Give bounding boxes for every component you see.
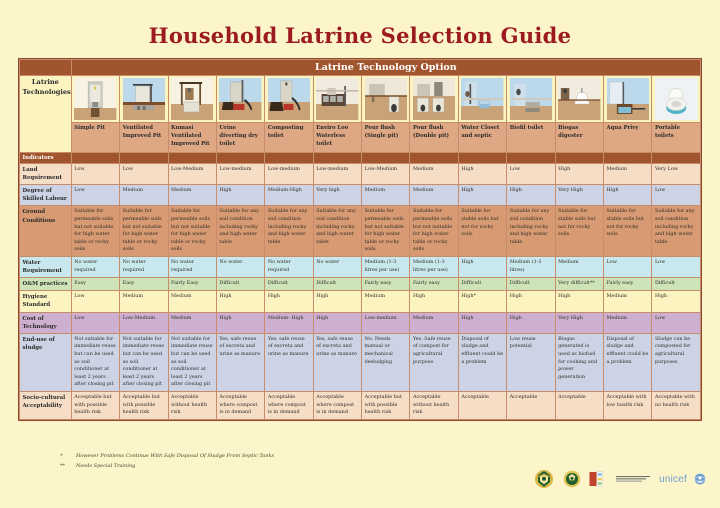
column-header-6: Pour flush (Single pit) [362, 123, 410, 153]
indicators-fill [313, 153, 361, 164]
cell-7-8: Disposal of sludge and effluent could be… [458, 333, 506, 391]
cell-8-0: Acceptable but with possible health risk [71, 391, 119, 419]
indicators-fill [604, 153, 652, 164]
cell-2-11: Suitable for stable soils but not for ro… [604, 206, 652, 257]
footnote-0: *However Problems Continue With Safe Dis… [60, 452, 274, 462]
cell-4-1: Easy [120, 278, 168, 291]
water-closet-septic-thumbnail [458, 76, 506, 123]
cell-4-0: Easy [71, 278, 119, 291]
cell-3-0: No water required [71, 257, 119, 278]
cell-3-3: No water [216, 257, 264, 278]
pour-flush-single-thumbnail [362, 76, 410, 123]
cell-5-12: High [652, 291, 701, 312]
banner-corner [20, 60, 72, 76]
cell-7-5: Yes, safe reuse of excreta and urine as … [313, 333, 361, 391]
cell-3-4: No water required [265, 257, 313, 278]
cell-6-7: Medium [410, 312, 458, 333]
environmental-health-wordmark [616, 472, 652, 486]
cell-8-5: Acceptable where compost is in demand [313, 391, 361, 419]
cell-5-8: High* [458, 291, 506, 312]
column-header-10: Biogas digester [555, 123, 603, 153]
cell-5-11: Medium [604, 291, 652, 312]
cell-3-5: No water [313, 257, 361, 278]
table-row: Degree of Skilled LabourLowMediumMediumH… [20, 185, 701, 206]
cell-6-1: Low-Medium [120, 312, 168, 333]
logo-strip: unicef [533, 466, 706, 492]
column-header-9: Biofil toilet [507, 123, 555, 153]
column-header-7: Pour flush (Double pit) [410, 123, 458, 153]
cell-4-2: Fairly Easy [168, 278, 216, 291]
cell-2-3: Suitable for any soil condition includin… [216, 206, 264, 257]
cell-5-0: Low [71, 291, 119, 312]
cell-8-2: Acceptable without health risk [168, 391, 216, 419]
cell-6-8: High [458, 312, 506, 333]
cell-3-6: Medium (1-3 litres per use) [362, 257, 410, 278]
footnote-text: Needs Special Training [76, 462, 135, 472]
footnote-mark: ** [60, 462, 76, 472]
cell-4-9: Difficult [507, 278, 555, 291]
column-header-8: Water Closet and septic [458, 123, 506, 153]
cell-2-0: Suitable for permeable soils but not sui… [71, 206, 119, 257]
cell-7-11: Disposal of sludge and effluent could be… [604, 333, 652, 391]
indicators-row: Indicators [20, 153, 701, 164]
cell-5-10: High [555, 291, 603, 312]
cell-5-5: High [313, 291, 361, 312]
cell-6-5: High [313, 312, 361, 333]
cell-2-2: Suitable for permeable soils but not sui… [168, 206, 216, 257]
table-row: Water RequirementNo water requiredNo wat… [20, 257, 701, 278]
cell-0-10: High [555, 164, 603, 185]
cell-0-8: High [458, 164, 506, 185]
cell-0-12: Very Low [652, 164, 701, 185]
cell-1-0: Low [71, 185, 119, 206]
banner-row: Latrine Technology Option [20, 60, 701, 76]
cell-5-9: High [507, 291, 555, 312]
column-header-11: Aqua Privy [604, 123, 652, 153]
technology-name-row: Simple PitVentilated Improved PitKumasi … [20, 123, 701, 153]
biogas-digester-thumbnail [555, 76, 603, 123]
row-label-2: Ground Conditions [20, 206, 72, 257]
table-row: Hygiene StandardLowMediumMediumHighHighH… [20, 291, 701, 312]
table-row: Cost of TechnologyLowLow-MediumMediumHig… [20, 312, 701, 333]
cell-8-8: Acceptable [458, 391, 506, 419]
table-row: End-use of sludgeNot suitable for immedi… [20, 333, 701, 391]
cell-4-6: Fairly easy [362, 278, 410, 291]
cell-6-2: Medium [168, 312, 216, 333]
cell-1-8: High [458, 185, 506, 206]
page-title: Household Latrine Selection Guide [0, 0, 720, 48]
cell-2-12: Suitable for any soil condition includin… [652, 206, 701, 257]
environmental-health-logo [589, 470, 609, 488]
column-header-1: Ventilated Improved Pit [120, 123, 168, 153]
indicators-fill [652, 153, 701, 164]
cell-1-5: Very high [313, 185, 361, 206]
column-header-2: Kumasi Ventilated Improved Pit [168, 123, 216, 153]
cell-4-4: Difficult [265, 278, 313, 291]
cell-0-11: Medium [604, 164, 652, 185]
cell-6-4: Medium- High [265, 312, 313, 333]
cell-3-10: Medium [555, 257, 603, 278]
cell-7-1: Not suitable for immediate reuse but can… [120, 333, 168, 391]
simple-pit-thumbnail [71, 76, 119, 123]
cell-2-4: Suitable for any soil condition includin… [265, 206, 313, 257]
cell-5-6: Medium [362, 291, 410, 312]
cell-0-5: Low-medium [313, 164, 361, 185]
row-label-0: Land Requirement [20, 164, 72, 185]
indicators-fill [362, 153, 410, 164]
unicef-globe-icon [694, 473, 706, 485]
footnote-1: **Needs Special Training [60, 462, 274, 472]
cell-0-7: Medium [410, 164, 458, 185]
cell-1-10: Very High [555, 185, 603, 206]
indicators-fill [458, 153, 506, 164]
aqua-privy-thumbnail [604, 76, 652, 123]
cell-6-0: Low [71, 312, 119, 333]
cell-5-1: Medium [120, 291, 168, 312]
biofil-toilet-thumbnail [507, 76, 555, 123]
table-row: O&M practicesEasyEasyFairly EasyDifficul… [20, 278, 701, 291]
cell-3-7: Medium (1-3 litres per use) [410, 257, 458, 278]
cell-1-2: Medium [168, 185, 216, 206]
cell-1-1: Medium [120, 185, 168, 206]
cell-0-3: Low-medium [216, 164, 264, 185]
table-row: Socio-cultural AcceptabilityAcceptable b… [20, 391, 701, 419]
cell-8-9: Acceptable [507, 391, 555, 419]
cell-5-3: High [216, 291, 264, 312]
unicef-logo-text: unicef [659, 474, 687, 485]
cell-0-1: Low [120, 164, 168, 185]
cell-2-7: Suitable for permeable soils but not sui… [410, 206, 458, 257]
cell-1-7: Medium [410, 185, 458, 206]
table-row: Ground ConditionsSuitable for permeable … [20, 206, 701, 257]
cell-5-2: Medium [168, 291, 216, 312]
portable-toilets-thumbnail [652, 76, 701, 123]
cell-6-9: High [507, 312, 555, 333]
indicators-fill [265, 153, 313, 164]
cell-2-5: Suitable for any soil condition includin… [313, 206, 361, 257]
cell-2-8: Suitable for stable soils but not for ro… [458, 206, 506, 257]
latrine-technologies-header: LatrineTechnologies [20, 76, 72, 153]
indicators-fill [71, 153, 119, 164]
guide-table: Latrine Technology OptionLatrineTechnolo… [19, 59, 701, 420]
row-label-7: End-use of sludge [20, 333, 72, 391]
cell-4-3: Difficult [216, 278, 264, 291]
indicators-fill [120, 153, 168, 164]
cell-3-2: No water required [168, 257, 216, 278]
cell-7-4: Yes, safe reuse of excreta and urine as … [265, 333, 313, 391]
cell-0-0: Low [71, 164, 119, 185]
latrine-selection-table: Latrine Technology OptionLatrineTechnolo… [18, 58, 702, 421]
ventilated-improved-pit-thumbnail [120, 76, 168, 123]
indicators-fill [507, 153, 555, 164]
cell-4-7: Fairly easy [410, 278, 458, 291]
cell-1-6: Medium [362, 185, 410, 206]
cell-1-3: High [216, 185, 264, 206]
column-header-4: Composting toilet [265, 123, 313, 153]
cell-2-9: Suitable for any soil condition includin… [507, 206, 555, 257]
cell-7-12: Sludge can be composted for agricultural… [652, 333, 701, 391]
cell-8-7: Acceptable without health risk [410, 391, 458, 419]
cell-7-10: Biogas generated is used as biofuel for … [555, 333, 603, 391]
cell-8-1: Acceptable but with possible health risk [120, 391, 168, 419]
cell-0-9: Low [507, 164, 555, 185]
cell-7-7: Yes. Safe reuse of compost for agricultu… [410, 333, 458, 391]
cell-4-5: Difficult [313, 278, 361, 291]
indicators-fill [555, 153, 603, 164]
kumasi-vip-thumbnail [168, 76, 216, 123]
footnote-mark: * [60, 452, 76, 462]
cell-3-11: Low [604, 257, 652, 278]
cell-7-6: No. Needs manual or mechanical desludgin… [362, 333, 410, 391]
cell-8-4: Acceptable where compost is in demand [265, 391, 313, 419]
row-label-8: Socio-cultural Acceptability [20, 391, 72, 419]
cell-0-6: Low-Medium [362, 164, 410, 185]
cell-3-9: Medium (1-3 litres) [507, 257, 555, 278]
poster-root: Household Latrine Selection Guide Latrin… [0, 0, 720, 508]
ghana-coat-of-arms-logo [533, 468, 555, 490]
cell-8-10: Acceptable [555, 391, 603, 419]
thumbnail-row: LatrineTechnologies [20, 76, 701, 123]
cell-2-10: Suitable for stable soils but not for ro… [555, 206, 603, 257]
cell-3-1: No water required [120, 257, 168, 278]
table-row: Land RequirementLowLowLow-MediumLow-medi… [20, 164, 701, 185]
footnote-text: However Problems Continue With Safe Disp… [76, 452, 274, 462]
cell-0-2: Low-Medium [168, 164, 216, 185]
cell-3-8: High [458, 257, 506, 278]
cell-8-11: Acceptable with low health risk [604, 391, 652, 419]
cell-1-11: High [604, 185, 652, 206]
cell-1-12: Low [652, 185, 701, 206]
indicators-label: Indicators [20, 153, 72, 164]
row-label-6: Cost of Technology [20, 312, 72, 333]
cell-6-10: Very High [555, 312, 603, 333]
cell-0-4: Low-medium [265, 164, 313, 185]
cell-6-3: High [216, 312, 264, 333]
cell-8-3: Acceptable where compost is in demand [216, 391, 264, 419]
cell-7-9: Low reuse potential [507, 333, 555, 391]
indicators-fill [216, 153, 264, 164]
row-label-3: Water Requirement [20, 257, 72, 278]
cell-8-6: Acceptable but with possible health risk [362, 391, 410, 419]
ministry-emblem-logo [562, 469, 582, 489]
cell-6-6: Low-medium [362, 312, 410, 333]
pour-flush-double-thumbnail [410, 76, 458, 123]
cell-7-0: Not suitable for immediate reuse but can… [71, 333, 119, 391]
cell-4-11: Fairly easy [604, 278, 652, 291]
cell-8-12: Acceptable with no health risk [652, 391, 701, 419]
row-label-5: Hygiene Standard [20, 291, 72, 312]
cell-2-1: Suitable for permeable soils but not sui… [120, 206, 168, 257]
column-header-3: Urine diverting dry toilet [216, 123, 264, 153]
cell-7-3: Yes, safe reuse of excreta and urine as … [216, 333, 264, 391]
cell-7-2: Not suitable for immediate reuse but can… [168, 333, 216, 391]
row-label-1: Degree of Skilled Labour [20, 185, 72, 206]
cell-6-11: Medium [604, 312, 652, 333]
column-header-5: Enviro Loo Waterless toilet [313, 123, 361, 153]
cell-4-12: Difficult [652, 278, 701, 291]
footnotes: *However Problems Continue With Safe Dis… [60, 452, 274, 471]
cell-2-6: Suitable for permeable soils but not sui… [362, 206, 410, 257]
cell-5-7: High [410, 291, 458, 312]
enviro-loo-thumbnail [313, 76, 361, 123]
cell-4-8: Difficult [458, 278, 506, 291]
indicators-fill [410, 153, 458, 164]
banner-title: Latrine Technology Option [71, 60, 700, 76]
cell-3-12: Low [652, 257, 701, 278]
indicators-fill [168, 153, 216, 164]
urine-diverting-dry-toilet-thumbnail [216, 76, 264, 123]
column-header-12: Portable toilets [652, 123, 701, 153]
cell-1-9: High [507, 185, 555, 206]
column-header-0: Simple Pit [71, 123, 119, 153]
cell-1-4: Medium-High [265, 185, 313, 206]
cell-4-10: Very difficult** [555, 278, 603, 291]
composting-toilet-thumbnail [265, 76, 313, 123]
row-label-4: O&M practices [20, 278, 72, 291]
cell-5-4: High [265, 291, 313, 312]
cell-6-12: Low [652, 312, 701, 333]
